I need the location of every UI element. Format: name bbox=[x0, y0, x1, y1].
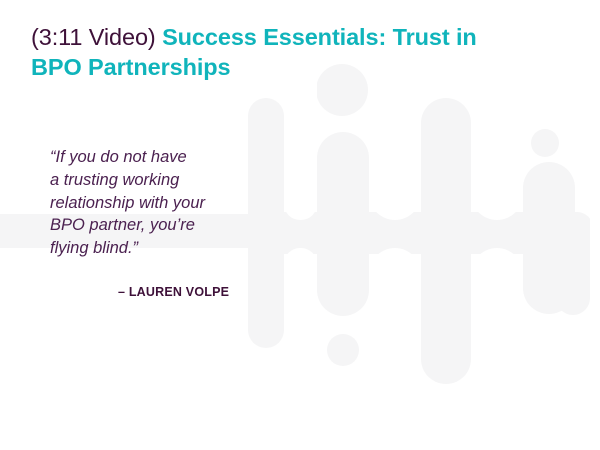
slide-title-line-2: BPO Partnerships bbox=[31, 52, 571, 82]
watermark-pill-second-tall bbox=[317, 132, 369, 316]
watermark-cutout-lower-c bbox=[471, 248, 523, 388]
watermark-circle-lower-left bbox=[327, 334, 359, 366]
quote-block: “If you do not have a trusting working r… bbox=[50, 146, 290, 260]
quote-attribution: – LAUREN VOLPE bbox=[118, 285, 229, 299]
watermark-pill-center-tall bbox=[421, 98, 471, 384]
slide-title-duration-prefix: (3:11 Video) bbox=[31, 24, 162, 50]
watermark-circle-dot-right bbox=[531, 129, 559, 157]
watermark-cutout-left-edge bbox=[0, 248, 248, 450]
slide-title-main-line-1: Success Essentials: Trust in bbox=[162, 24, 477, 50]
watermark-pill-right-outer bbox=[556, 215, 590, 315]
slide-title-main-line-2: BPO Partnerships bbox=[31, 54, 231, 80]
slide-title: (3:11 Video) Success Essentials: Trust i… bbox=[31, 22, 571, 82]
slide-canvas: (3:11 Video) Success Essentials: Trust i… bbox=[0, 0, 600, 450]
watermark-bar-horizontal-mid bbox=[248, 212, 593, 254]
watermark-cutout-upper-c bbox=[471, 60, 523, 220]
watermark-cutout-upper-b bbox=[369, 60, 421, 220]
watermark-cutout-right-edge bbox=[590, 0, 600, 450]
quote-text: “If you do not have a trusting working r… bbox=[50, 146, 290, 260]
watermark-cutout-lower-a bbox=[284, 248, 317, 368]
watermark-cutout-lower-b bbox=[369, 248, 421, 388]
watermark-cutout-bottom bbox=[0, 386, 600, 450]
watermark-pill-right-tall bbox=[523, 162, 575, 314]
slide-title-line-1: (3:11 Video) Success Essentials: Trust i… bbox=[31, 22, 571, 52]
